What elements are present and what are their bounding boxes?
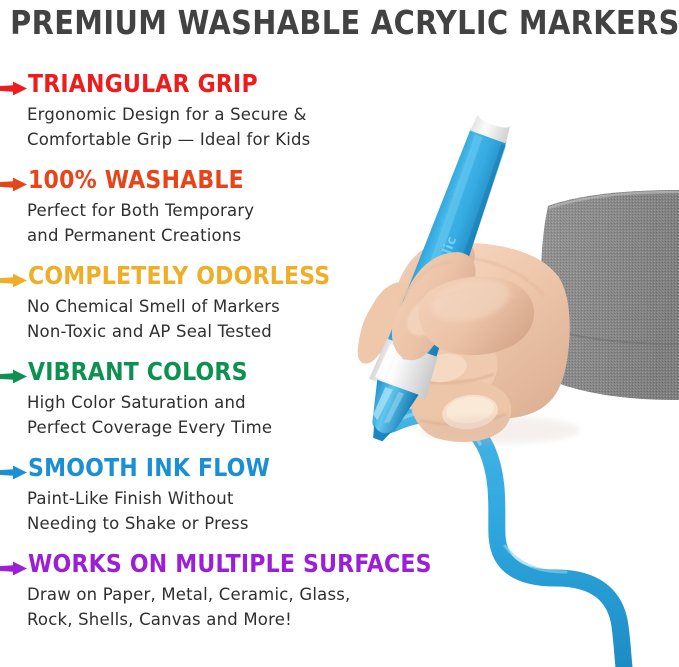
arrow-right-icon: [0, 81, 28, 96]
feature-line: Rock, Shells, Canvas and More!: [27, 607, 351, 632]
feature-line: Comfortable Grip — Ideal for Kids: [27, 127, 310, 152]
feature-description: Draw on Paper, Metal, Ceramic, Glass, Ro…: [27, 582, 351, 632]
feature-line: Non-Toxic and AP Seal Tested: [27, 319, 280, 344]
feature-item: SMOOTH INK FLOW Paint-Like Finish Withou…: [0, 457, 560, 553]
feature-line: Paint-Like Finish Without: [27, 486, 249, 511]
feature-line: Perfect Coverage Every Time: [27, 415, 272, 440]
feature-heading: 100% WASHABLE: [28, 165, 244, 194]
feature-item: WORKS ON MULTIPLE SURFACES Draw on Paper…: [0, 553, 560, 649]
feature-heading: COMPLETELY ODORLESS: [28, 261, 330, 290]
feature-item: COMPLETELY ODORLESS No Chemical Smell of…: [0, 265, 560, 361]
page-title: PREMIUM WASHABLE ACRYLIC MARKERS: [10, 3, 669, 42]
feature-heading: VIBRANT COLORS: [28, 357, 248, 386]
feature-item: VIBRANT COLORS High Color Saturation and…: [0, 361, 560, 457]
arrow-right-icon: [0, 561, 28, 576]
feature-item: 100% WASHABLE Perfect for Both Temporary…: [0, 169, 560, 265]
feature-line: Perfect for Both Temporary: [27, 198, 254, 223]
sleeve-cuff: [541, 190, 679, 400]
feature-list: TRIANGULAR GRIP Ergonomic Design for a S…: [0, 73, 560, 649]
feature-description: Ergonomic Design for a Secure & Comforta…: [27, 102, 310, 152]
feature-line: Needing to Shake or Press: [27, 511, 249, 536]
feature-heading: TRIANGULAR GRIP: [28, 69, 258, 98]
feature-line: Ergonomic Design for a Secure &: [27, 102, 310, 127]
feature-description: Perfect for Both Temporary and Permanent…: [27, 198, 254, 248]
feature-heading: WORKS ON MULTIPLE SURFACES: [28, 549, 432, 578]
arrow-right-icon: [0, 465, 28, 480]
arrow-right-icon: [0, 369, 28, 384]
feature-item: TRIANGULAR GRIP Ergonomic Design for a S…: [0, 73, 560, 169]
arrow-right-icon: [0, 177, 28, 192]
feature-line: and Permanent Creations: [27, 223, 254, 248]
arrow-right-icon: [0, 273, 28, 288]
feature-line: High Color Saturation and: [27, 390, 272, 415]
feature-description: No Chemical Smell of Markers Non-Toxic a…: [27, 294, 280, 344]
feature-description: High Color Saturation and Perfect Covera…: [27, 390, 272, 440]
feature-line: Draw on Paper, Metal, Ceramic, Glass,: [27, 582, 351, 607]
feature-heading: SMOOTH INK FLOW: [28, 453, 270, 482]
feature-description: Paint-Like Finish Without Needing to Sha…: [27, 486, 249, 536]
infographic-root: Washable Acrylic acrylic marker PREMIUM …: [0, 0, 679, 667]
feature-line: No Chemical Smell of Markers: [27, 294, 280, 319]
